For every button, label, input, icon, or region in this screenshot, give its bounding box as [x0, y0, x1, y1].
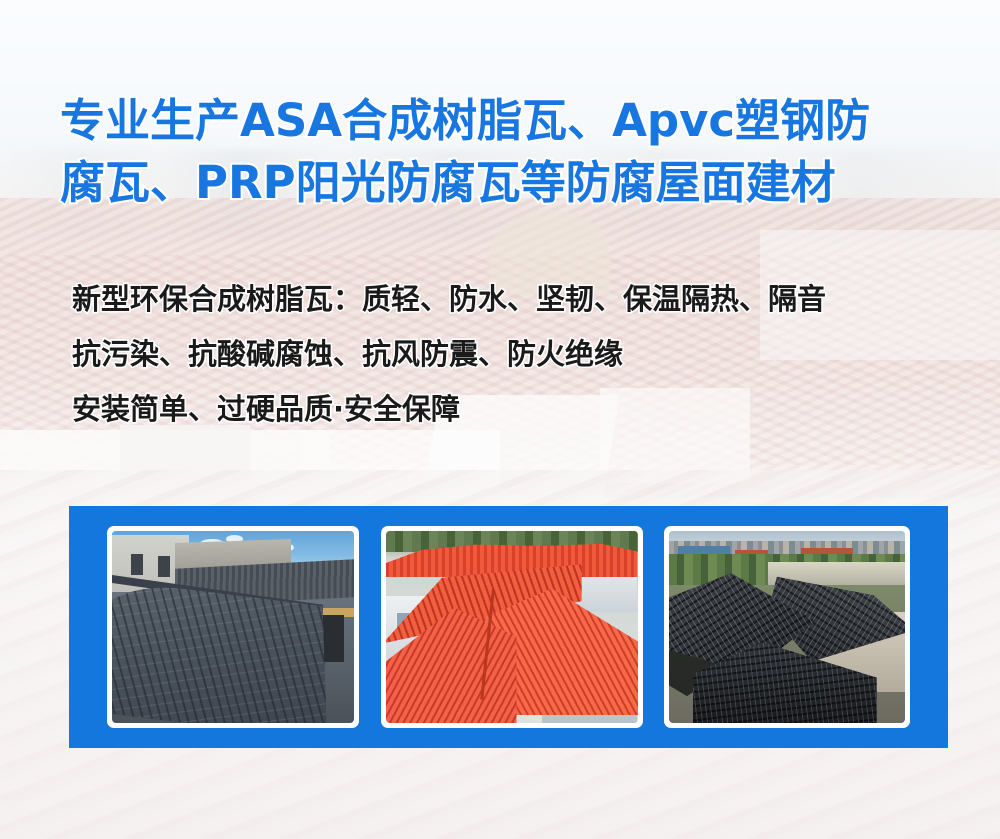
headline-line-2: 腐瓦、PRP阳光防腐瓦等防腐屋面建材 [60, 152, 950, 214]
gallery-frame [69, 506, 948, 748]
headline: 专业生产ASA合成树脂瓦、Apvc塑钢防 腐瓦、PRP阳光防腐瓦等防腐屋面建材 [60, 90, 950, 214]
photo-black-roof [669, 531, 905, 723]
subheadline-line-2: 抗污染、抗酸碱腐蚀、抗风防震、防火绝缘 [72, 327, 952, 382]
gallery-item-red-roof[interactable] [381, 526, 643, 728]
gallery-item-dark-grey-roof[interactable] [107, 526, 359, 728]
photo1-window [158, 556, 170, 577]
gallery-row [69, 506, 948, 748]
subheadline-line-3: 安装简单、过硬品质·安全保障 [72, 382, 952, 437]
gallery-item-black-roof[interactable] [664, 526, 910, 728]
headline-line-1: 专业生产ASA合成树脂瓦、Apvc塑钢防 [60, 90, 950, 152]
subheadline: 新型环保合成树脂瓦：质轻、防水、坚韧、保温隔热、隔音 抗污染、抗酸碱腐蚀、抗风防… [72, 272, 952, 437]
photo-red-roof [386, 531, 638, 723]
product-banner: 专业生产ASA合成树脂瓦、Apvc塑钢防 腐瓦、PRP阳光防腐瓦等防腐屋面建材 … [0, 0, 1000, 839]
photo1-window [131, 554, 143, 575]
photo-dark-grey-roof [112, 531, 354, 723]
subheadline-line-1: 新型环保合成树脂瓦：质轻、防水、坚韧、保温隔热、隔音 [72, 272, 952, 327]
